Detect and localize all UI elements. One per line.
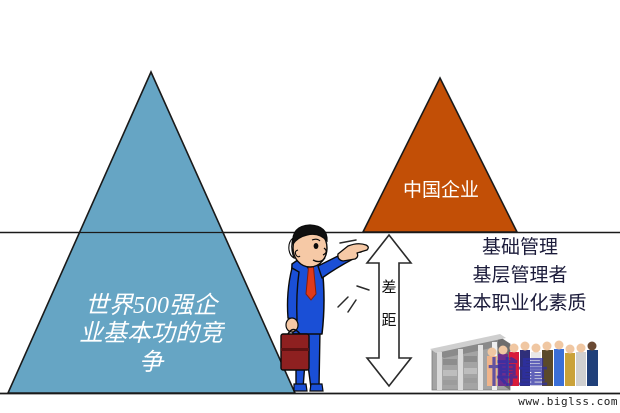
world-500-pyramid-label: 世界500强企 业基本功的竞 争 [38,292,264,377]
china-enterprise-pyramid [363,78,517,232]
gap-arrow-label: 差 距 [378,272,400,338]
pointing-businessman-clipart [281,225,369,391]
watermark-url: www.biglss.com [470,396,618,409]
foundation-text-line-1: 基础管理 [430,237,610,259]
foundation-text-line-2: 基层管理者 [430,265,610,287]
watermark-logo: 博量 [488,356,618,391]
foundation-text-line-3: 基本职业化素质 [430,293,610,315]
china-enterprise-pyramid-label: 中国企业 [385,180,497,202]
slide-canvas: 世界500强企 业基本功的竞 争 中国企业 差 距 基础管理 基层管理者 基本职… [0,0,620,413]
